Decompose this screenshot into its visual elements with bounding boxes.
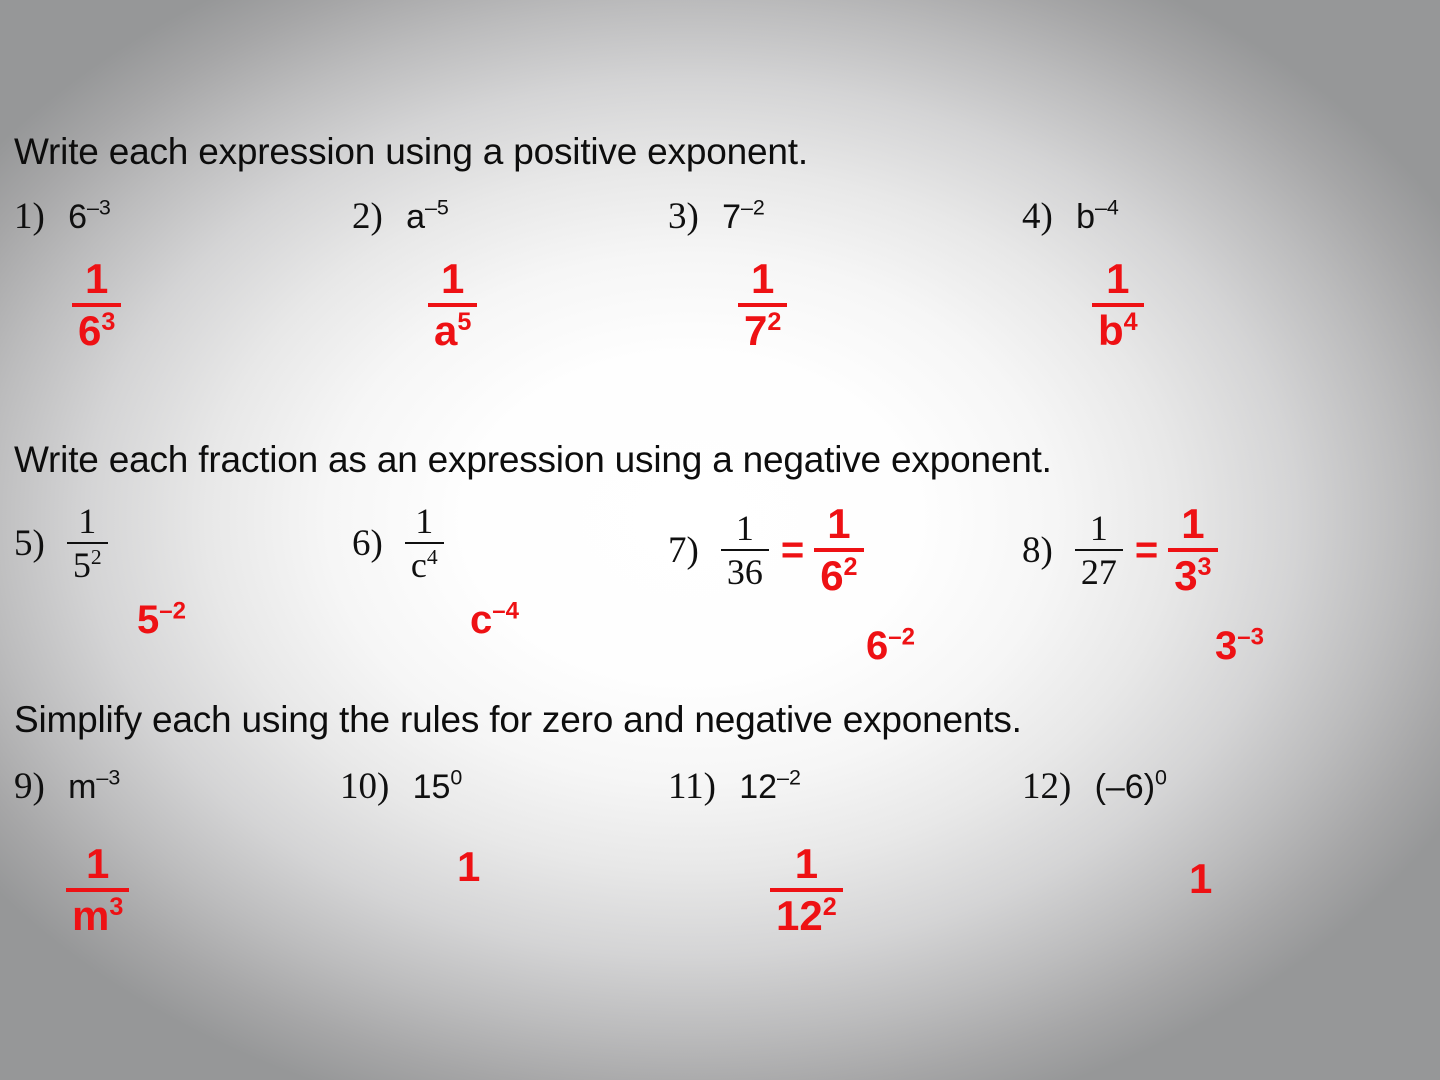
problem-3-answer: 1 72 <box>738 258 787 352</box>
problem-11-answer-denominator-base: 12 <box>776 892 823 939</box>
problem-2-answer: 1 a5 <box>428 258 477 352</box>
fraction-bar <box>721 549 769 551</box>
problem-9-answer-numerator: 1 <box>66 843 129 886</box>
problem-1-number: 1) <box>14 196 45 237</box>
problem-1-answer-denominator-exponent: 3 <box>101 308 115 336</box>
problem-12-number: 12) <box>1022 766 1071 807</box>
problem-8-equivalent-denominator-base: 3 <box>1174 552 1197 599</box>
section-2-prompt: Write each fraction as an expression usi… <box>14 439 1052 481</box>
problem-4-answer-denominator-base: b <box>1098 307 1124 354</box>
problem-12-exponent: 0 <box>1155 766 1167 790</box>
problem-2-answer-fraction: 1 a5 <box>428 258 477 352</box>
problem-7-stem: 7) 1 36 = 1 62 <box>668 503 864 597</box>
problem-6-stem-denominator-exponent: 4 <box>427 545 438 569</box>
problem-9-answer-denominator: m3 <box>66 894 129 937</box>
problem-1-stem: 1) 6–3 <box>14 195 111 238</box>
problem-8-equals: = <box>1135 528 1158 573</box>
problem-8-stem-numerator: 1 <box>1075 510 1123 547</box>
problem-3-answer-fraction: 1 72 <box>738 258 787 352</box>
section-3-prompt: Simplify each using the rules for zero a… <box>14 699 1022 741</box>
problem-4-answer-fraction: 1 b4 <box>1092 258 1144 352</box>
slide-canvas: Write each expression using a positive e… <box>0 0 1440 1080</box>
problem-4-number: 4) <box>1022 196 1053 237</box>
problem-1-exponent: –3 <box>87 196 111 220</box>
problem-1-answer-denominator: 63 <box>72 309 121 352</box>
problem-6-stem-denominator: c4 <box>405 546 444 583</box>
problem-11-number: 11) <box>668 766 716 807</box>
problem-8-equivalent-denominator: 33 <box>1168 554 1217 597</box>
problem-4-exponent: –4 <box>1095 196 1119 220</box>
problem-8-equivalent-fraction: 1 33 <box>1168 503 1217 597</box>
problem-4-base: b <box>1076 198 1095 236</box>
problem-4-answer-denominator: b4 <box>1092 309 1144 352</box>
problem-11-exponent: –2 <box>777 766 801 790</box>
problem-5-number: 5) <box>14 522 45 565</box>
problem-7-equivalent-denominator: 62 <box>814 554 863 597</box>
problem-7-stem-fraction: 1 36 <box>721 510 769 590</box>
problem-2-answer-denominator: a5 <box>428 309 477 352</box>
problem-8-answer: 3–3 <box>1215 624 1264 669</box>
problem-3-answer-denominator-base: 7 <box>744 307 767 354</box>
problem-1-base: 6 <box>68 198 87 236</box>
problem-6-stem: 6) 1 c4 <box>352 503 444 583</box>
problem-7-answer-exponent: –2 <box>888 624 915 651</box>
problem-6-answer-base: c <box>470 598 492 642</box>
problem-6-stem-denominator-base: c <box>411 545 427 585</box>
problem-7-answer: 6–2 <box>866 624 915 669</box>
problem-11-answer-denominator: 122 <box>770 894 843 937</box>
problem-11-answer-denominator-exponent: 2 <box>823 893 837 921</box>
problem-6-stem-numerator: 1 <box>405 503 444 540</box>
problem-1-answer-fraction: 1 63 <box>72 258 121 352</box>
fraction-bar <box>67 542 108 544</box>
problem-8-equivalent-numerator: 1 <box>1168 503 1217 546</box>
problem-7-equals: = <box>781 528 804 573</box>
fraction-bar <box>1075 549 1123 551</box>
problem-9-answer-fraction: 1 m3 <box>66 843 129 937</box>
problem-7-stem-numerator: 1 <box>721 510 769 547</box>
fraction-bar <box>405 542 444 544</box>
problem-3-stem: 3) 7–2 <box>668 195 765 238</box>
problem-4-stem: 4) b–4 <box>1022 195 1119 238</box>
problem-5-stem-fraction: 1 52 <box>67 503 108 583</box>
problem-7-equivalent-fraction: 1 62 <box>814 503 863 597</box>
problem-8-stem-denominator: 27 <box>1075 553 1123 590</box>
problem-8-number: 8) <box>1022 529 1053 572</box>
problem-6-stem-fraction: 1 c4 <box>405 503 444 583</box>
problem-11-base: 12 <box>739 768 777 806</box>
problem-5-stem-denominator-base: 5 <box>73 545 91 585</box>
problem-3-answer-numerator: 1 <box>738 258 787 301</box>
problem-5-stem-numerator: 1 <box>67 503 108 540</box>
problem-1-answer-numerator: 1 <box>72 258 121 301</box>
problem-2-answer-denominator-base: a <box>434 307 457 354</box>
problem-5-stem: 5) 1 52 <box>14 503 108 583</box>
problem-8-answer-base: 3 <box>1215 624 1237 668</box>
problem-5-answer-exponent: –2 <box>159 598 186 625</box>
problem-12-stem: 12) (–6)0 <box>1022 765 1167 808</box>
problem-9-base: m <box>68 768 96 806</box>
problem-11-answer-fraction: 1 122 <box>770 843 843 937</box>
problem-4-answer: 1 b4 <box>1092 258 1144 352</box>
problem-9-exponent: –3 <box>96 766 120 790</box>
problem-1-answer-denominator-base: 6 <box>78 307 101 354</box>
problem-9-answer: 1 m3 <box>66 843 129 937</box>
problem-11-stem: 11) 12–2 <box>668 765 801 808</box>
problem-10-stem: 10) 150 <box>340 765 462 808</box>
problem-10-answer: 1 <box>457 843 480 891</box>
problem-8-stem: 8) 1 27 = 1 33 <box>1022 503 1218 597</box>
problem-10-number: 10) <box>340 766 389 807</box>
problem-10-base: 15 <box>413 768 451 806</box>
problem-8-stem-fraction: 1 27 <box>1075 510 1123 590</box>
problem-9-number: 9) <box>14 766 45 807</box>
problem-4-answer-numerator: 1 <box>1092 258 1144 301</box>
problem-5-stem-denominator: 52 <box>67 546 108 583</box>
problem-2-answer-numerator: 1 <box>428 258 477 301</box>
problem-7-equivalent-denominator-exponent: 2 <box>844 553 858 581</box>
problem-7-answer-base: 6 <box>866 624 888 668</box>
problem-3-exponent: –2 <box>741 196 765 220</box>
problem-3-answer-denominator: 72 <box>738 309 787 352</box>
problem-2-stem: 2) a–5 <box>352 195 449 238</box>
problem-12-base: (–6) <box>1095 768 1155 806</box>
problem-7-stem-denominator-base: 36 <box>727 552 763 592</box>
problem-9-answer-denominator-base: m <box>72 892 109 939</box>
problem-4-answer-denominator-exponent: 4 <box>1124 308 1138 336</box>
problem-5-answer-base: 5 <box>137 598 159 642</box>
problem-7-stem-denominator: 36 <box>721 553 769 590</box>
problem-10-exponent: 0 <box>450 766 462 790</box>
problem-9-answer-denominator-exponent: 3 <box>109 893 123 921</box>
problem-12-answer: 1 <box>1189 855 1212 903</box>
problem-2-exponent: –5 <box>425 196 449 220</box>
problem-5-answer: 5–2 <box>137 598 186 643</box>
problem-5-stem-denominator-exponent: 2 <box>91 545 102 569</box>
problem-2-base: a <box>406 198 425 236</box>
problem-2-answer-denominator-exponent: 5 <box>457 308 471 336</box>
problem-2-number: 2) <box>352 196 383 237</box>
problem-3-number: 3) <box>668 196 699 237</box>
section-1-prompt: Write each expression using a positive e… <box>14 131 808 173</box>
problem-7-number: 7) <box>668 529 699 572</box>
problem-6-answer-exponent: –4 <box>492 598 519 625</box>
problem-8-stem-denominator-base: 27 <box>1081 552 1117 592</box>
problem-3-answer-denominator-exponent: 2 <box>767 308 781 336</box>
problem-1-answer: 1 63 <box>72 258 121 352</box>
problem-6-number: 6) <box>352 522 383 565</box>
problem-8-equivalent-denominator-exponent: 3 <box>1198 553 1212 581</box>
problem-9-stem: 9) m–3 <box>14 765 120 808</box>
problem-7-equivalent-denominator-base: 6 <box>820 552 843 599</box>
problem-7-equivalent-numerator: 1 <box>814 503 863 546</box>
problem-8-answer-exponent: –3 <box>1237 624 1264 651</box>
problem-6-answer: c–4 <box>470 598 519 643</box>
problem-3-base: 7 <box>722 198 741 236</box>
problem-11-answer: 1 122 <box>770 843 843 937</box>
problem-11-answer-numerator: 1 <box>770 843 843 886</box>
